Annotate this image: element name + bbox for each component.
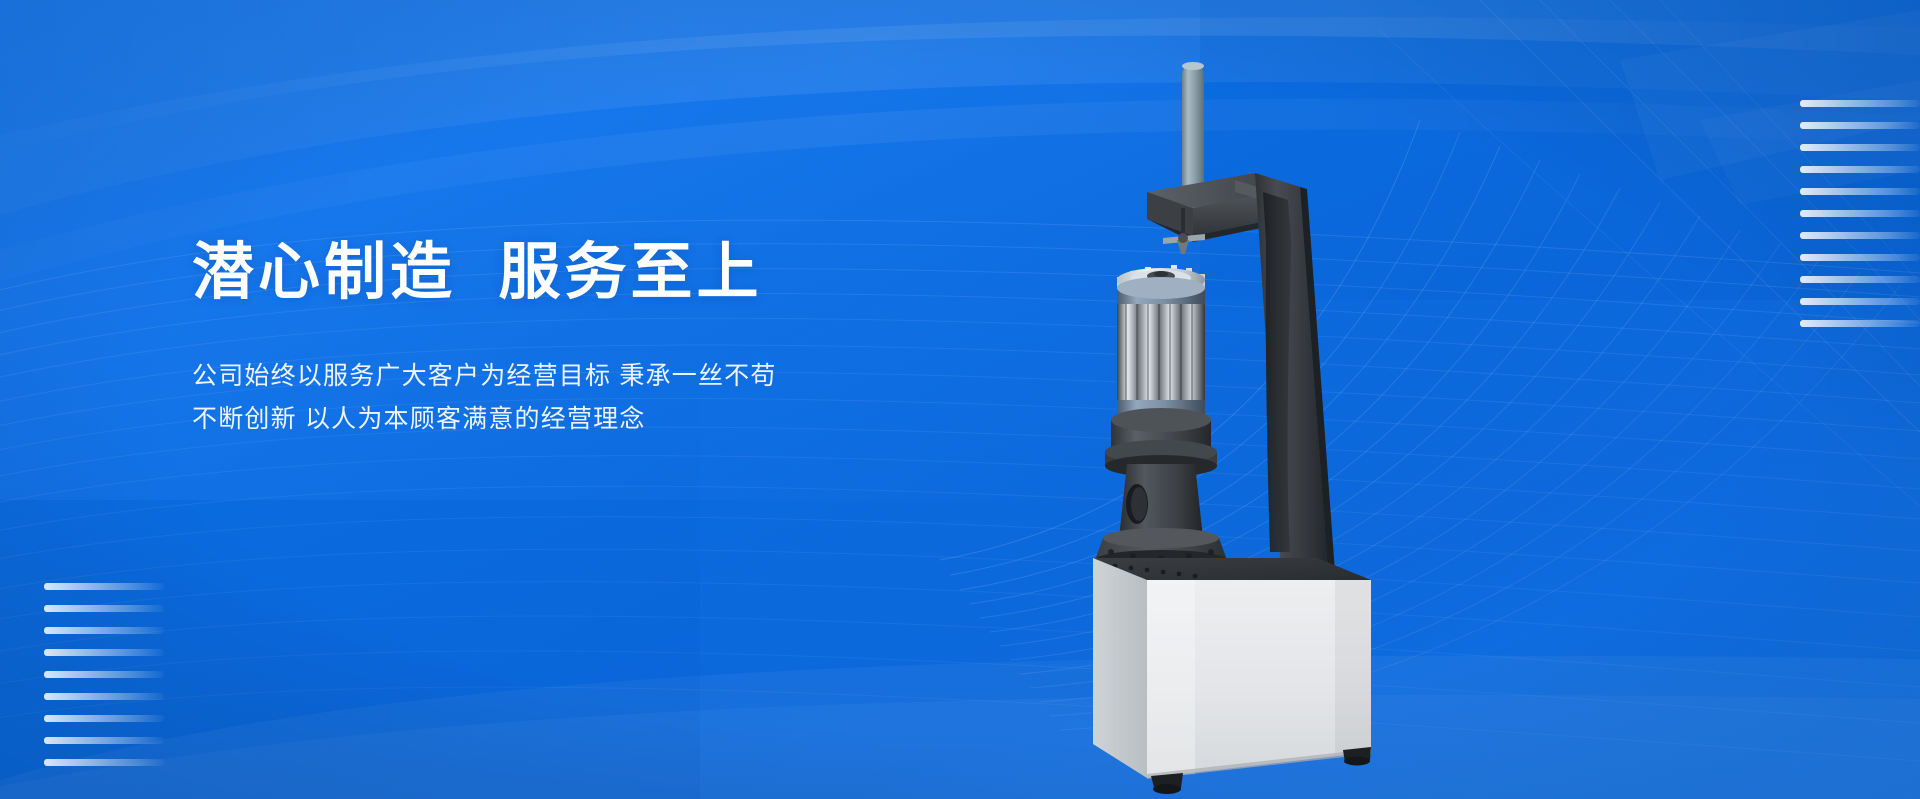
decorative-bar-group-right	[1800, 100, 1920, 342]
finned-cylinder-rotor	[1105, 265, 1217, 477]
decorative-bar-group-left	[44, 583, 164, 781]
decorative-bar	[1800, 144, 1920, 151]
base-flange	[1095, 464, 1227, 570]
decorative-bar	[44, 759, 164, 766]
decorative-bar	[1800, 232, 1920, 239]
decorative-bar	[44, 737, 164, 744]
decorative-bar	[1800, 276, 1920, 283]
banner-copy: 潜心制造 服务至上 公司始终以服务广大客户为经营目标 秉承一丝不苟 不断创新 以…	[192, 236, 1092, 441]
product-machine-image	[1085, 52, 1505, 799]
decorative-bar	[44, 627, 164, 634]
hero-banner: 潜心制造 服务至上 公司始终以服务广大客户为经营目标 秉承一丝不苟 不断创新 以…	[0, 0, 1920, 799]
decorative-bar	[1800, 166, 1920, 173]
vertical-support-column	[1255, 173, 1343, 618]
banner-subtitle-line-2: 不断创新 以人为本顾客满意的经营理念	[192, 398, 1092, 441]
decorative-bar	[1800, 298, 1920, 305]
decorative-bar	[44, 605, 164, 612]
decorative-bar	[1800, 188, 1920, 195]
white-cabinet-pedestal	[1093, 558, 1371, 779]
decorative-bar	[1800, 122, 1920, 129]
decorative-bar	[1800, 320, 1920, 327]
decorative-bar	[1800, 210, 1920, 217]
decorative-bar	[44, 715, 164, 722]
machine-svg	[1085, 52, 1505, 799]
decorative-bar	[1800, 254, 1920, 261]
decorative-bar	[44, 649, 164, 656]
banner-subtitle-line-1: 公司始终以服务广大客户为经营目标 秉承一丝不苟	[192, 355, 1092, 398]
decorative-bar	[44, 583, 164, 590]
decorative-bar	[44, 693, 164, 700]
decorative-bar	[44, 671, 164, 678]
decorative-bar	[1800, 100, 1920, 107]
banner-headline: 潜心制造 服务至上	[192, 236, 1092, 309]
banner-subtitle: 公司始终以服务广大客户为经营目标 秉承一丝不苟 不断创新 以人为本顾客满意的经营…	[192, 309, 1092, 441]
